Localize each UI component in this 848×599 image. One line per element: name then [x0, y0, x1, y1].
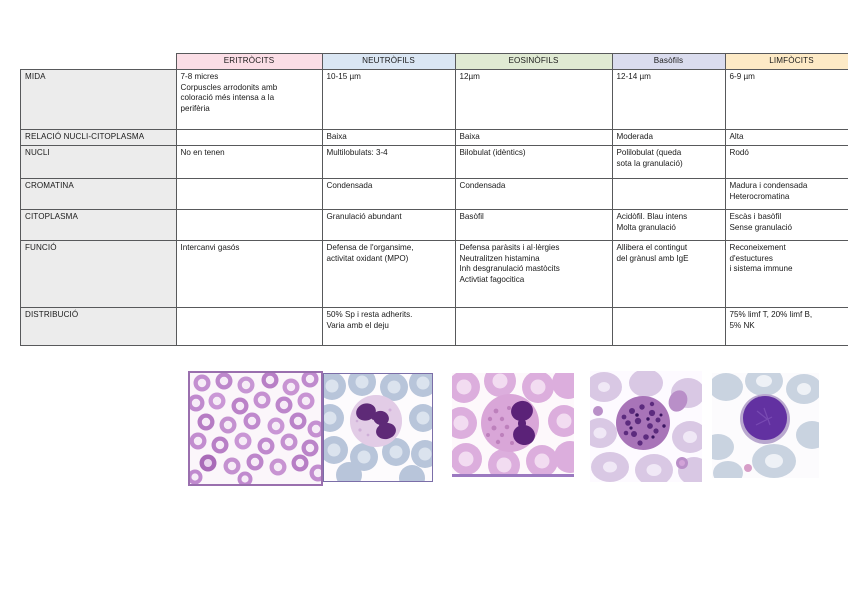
erythrocytes-micrograph [188, 371, 323, 486]
row-label-relacio-nucli-citoplasma: RELACIÓ NUCLI-CITOPLASMA [21, 130, 177, 146]
cell-citoplasma-eritrocits [176, 210, 322, 241]
table-row-mida: MIDA 7-8 micres Corpuscles arrodonits am… [21, 70, 848, 130]
cell-relacio-neutrofils: Baixa [322, 130, 455, 146]
cell-nucli-eosinofils: Bilobulat (idèntics) [455, 146, 612, 179]
cell-mida-basofils: 12-14 µm [612, 70, 725, 130]
cell-cromatina-neutrofils: Condensada [322, 179, 455, 210]
cell-text-line: activitat oxidant (MPO) [327, 254, 451, 265]
cell-citoplasma-basofils: Acidòfil. Blau intens Molta granulació [612, 210, 725, 241]
table-row-relacio-nucli-citoplasma: RELACIÓ NUCLI-CITOPLASMA Baixa Baixa Mod… [21, 130, 848, 146]
header-basofils: Basòfils [612, 54, 725, 70]
cell-text-line: Rodó [730, 148, 848, 159]
cell-text-line: Inh desgranulació mastòcits [460, 264, 608, 275]
cell-funcio-eosinofils: Defensa paràsits i al·lèrgies Neutralitz… [455, 241, 612, 308]
cell-text-line: Activtiat fagocitica [460, 275, 608, 286]
cell-text-line: Acidòfil. Blau intens [617, 212, 721, 223]
cell-citoplasma-limfocits: Escàs i basòfil Sense granulació [725, 210, 848, 241]
cell-text-line: Condensada [327, 181, 451, 192]
cell-citoplasma-eosinofils: Basòfil [455, 210, 612, 241]
cell-text-line: Granulació abundant [327, 212, 451, 223]
cell-text-line: 6-9 µm [730, 72, 848, 83]
cell-text-line: Molta granulació [617, 223, 721, 234]
row-label-mida: MIDA [21, 70, 177, 130]
table-row-nucli: NUCLI No en tenen Multilobulats: 3-4 Bil… [21, 146, 848, 179]
cell-text-line: Bilobulat (idèntics) [460, 148, 608, 159]
cell-text-line: Intercanvi gasós [181, 243, 318, 254]
table-row-distribucio: DISTRIBUCIÓ 50% Sp i resta adherits. Var… [21, 308, 848, 346]
row-label-funcio: FUNCIÓ [21, 241, 177, 308]
cell-cromatina-basofils [612, 179, 725, 210]
cell-text-line: Sense granulació [730, 223, 848, 234]
table-row-citoplasma: CITOPLASMA Granulació abundant Basòfil A… [21, 210, 848, 241]
table-header-row: ERITRÒCITS NEUTRÒFILS EOSINÒFILS Basòfil… [21, 54, 848, 70]
cell-text-line: Moderada [617, 132, 721, 143]
table-row-funcio: FUNCIÓ Intercanvi gasós Defensa de l'org… [21, 241, 848, 308]
cell-text-line: Alta [730, 132, 848, 143]
document-page: ERITRÒCITS NEUTRÒFILS EOSINÒFILS Basòfil… [0, 0, 848, 599]
cell-text-line: i sistema immune [730, 264, 848, 275]
cell-text-line: Heterocromatina [730, 192, 848, 203]
cell-text-line: Basòfil [460, 212, 608, 223]
lymphocyte-micrograph [712, 373, 819, 478]
cell-text-line: Allibera el contingut [617, 243, 721, 254]
row-label-distribucio: DISTRIBUCIÓ [21, 308, 177, 346]
cell-text-line: Defensa de l'organsime, [327, 243, 451, 254]
micrograph-row [0, 371, 848, 485]
cell-text-line: sota la granulació) [617, 159, 721, 170]
cell-text-line: 12-14 µm [617, 72, 721, 83]
cell-text-line: Varia amb el deju [327, 321, 451, 332]
header-blank-corner [21, 54, 177, 70]
cell-funcio-limfocits: Reconeixement d'estuctures i sistema imm… [725, 241, 848, 308]
cell-text-line: Madura i condensada [730, 181, 848, 192]
cell-funcio-neutrofils: Defensa de l'organsime, activitat oxidan… [322, 241, 455, 308]
cell-text-line: coloració més intensa a la [181, 93, 318, 104]
neutrophil-micrograph [323, 373, 433, 482]
cell-text-line: No en tenen [181, 148, 318, 159]
cell-funcio-eritrocits: Intercanvi gasós [176, 241, 322, 308]
cell-text-line: 5% NK [730, 321, 848, 332]
cell-text-line: perifèria [181, 104, 318, 115]
cell-distribucio-neutrofils: 50% Sp i resta adherits. Varia amb el de… [322, 308, 455, 346]
cell-text-line: Condensada [460, 181, 608, 192]
cell-text-line: Polilobulat (queda [617, 148, 721, 159]
header-eritrocits: ERITRÒCITS [176, 54, 322, 70]
cell-nucli-basofils: Polilobulat (queda sota la granulació) [612, 146, 725, 179]
cell-cromatina-limfocits: Madura i condensada Heterocromatina [725, 179, 848, 210]
cell-text-line: Corpuscles arrodonits amb [181, 83, 318, 94]
cell-distribucio-eritrocits [176, 308, 322, 346]
row-label-cromatina: CROMATINA [21, 179, 177, 210]
cell-nucli-neutrofils: Multilobulats: 3-4 [322, 146, 455, 179]
cell-distribucio-limfocits: 75% limf T, 20% limf B, 5% NK [725, 308, 848, 346]
cell-text-line: d'estuctures [730, 254, 848, 265]
row-label-citoplasma: CITOPLASMA [21, 210, 177, 241]
cell-text-line: Reconeixement [730, 243, 848, 254]
cell-relacio-basofils: Moderada [612, 130, 725, 146]
cell-text-line: 7-8 micres [181, 72, 318, 83]
cell-relacio-eritrocits [176, 130, 322, 146]
cell-mida-limfocits: 6-9 µm [725, 70, 848, 130]
cell-nucli-eritrocits: No en tenen [176, 146, 322, 179]
cell-text-line: 12µm [460, 72, 608, 83]
cell-text-line: Defensa paràsits i al·lèrgies [460, 243, 608, 254]
cell-text-line: Baixa [460, 132, 608, 143]
cell-nucli-limfocits: Rodó [725, 146, 848, 179]
cell-text-line: 10-15 µm [327, 72, 451, 83]
cell-text-line: del grànusl amb IgE [617, 254, 721, 265]
cell-text-line: Baixa [327, 132, 451, 143]
cell-text-line: Escàs i basòfil [730, 212, 848, 223]
cell-distribucio-eosinofils [455, 308, 612, 346]
header-limfocits: LIMFÒCITS [725, 54, 848, 70]
blood-cell-comparison-table: ERITRÒCITS NEUTRÒFILS EOSINÒFILS Basòfil… [20, 53, 848, 346]
cell-text-line: Multilobulats: 3-4 [327, 148, 451, 159]
cell-mida-eosinofils: 12µm [455, 70, 612, 130]
cell-text-line: Neutralitzen histamina [460, 254, 608, 265]
basophil-micrograph [590, 371, 702, 482]
cell-funcio-basofils: Allibera el contingut del grànusl amb Ig… [612, 241, 725, 308]
cell-relacio-eosinofils: Baixa [455, 130, 612, 146]
cell-citoplasma-neutrofils: Granulació abundant [322, 210, 455, 241]
cell-mida-eritrocits: 7-8 micres Corpuscles arrodonits amb col… [176, 70, 322, 130]
cell-distribucio-basofils [612, 308, 725, 346]
cell-cromatina-eosinofils: Condensada [455, 179, 612, 210]
row-label-nucli: NUCLI [21, 146, 177, 179]
cell-relacio-limfocits: Alta [725, 130, 848, 146]
header-neutrofils: NEUTRÒFILS [322, 54, 455, 70]
cell-text-line: 75% limf T, 20% limf B, [730, 310, 848, 321]
header-eosinofils: EOSINÒFILS [455, 54, 612, 70]
eosinophil-micrograph [452, 373, 574, 477]
cell-cromatina-eritrocits [176, 179, 322, 210]
cell-text-line: 50% Sp i resta adherits. [327, 310, 451, 321]
cell-mida-neutrofils: 10-15 µm [322, 70, 455, 130]
table-row-cromatina: CROMATINA Condensada Condensada Madura i… [21, 179, 848, 210]
